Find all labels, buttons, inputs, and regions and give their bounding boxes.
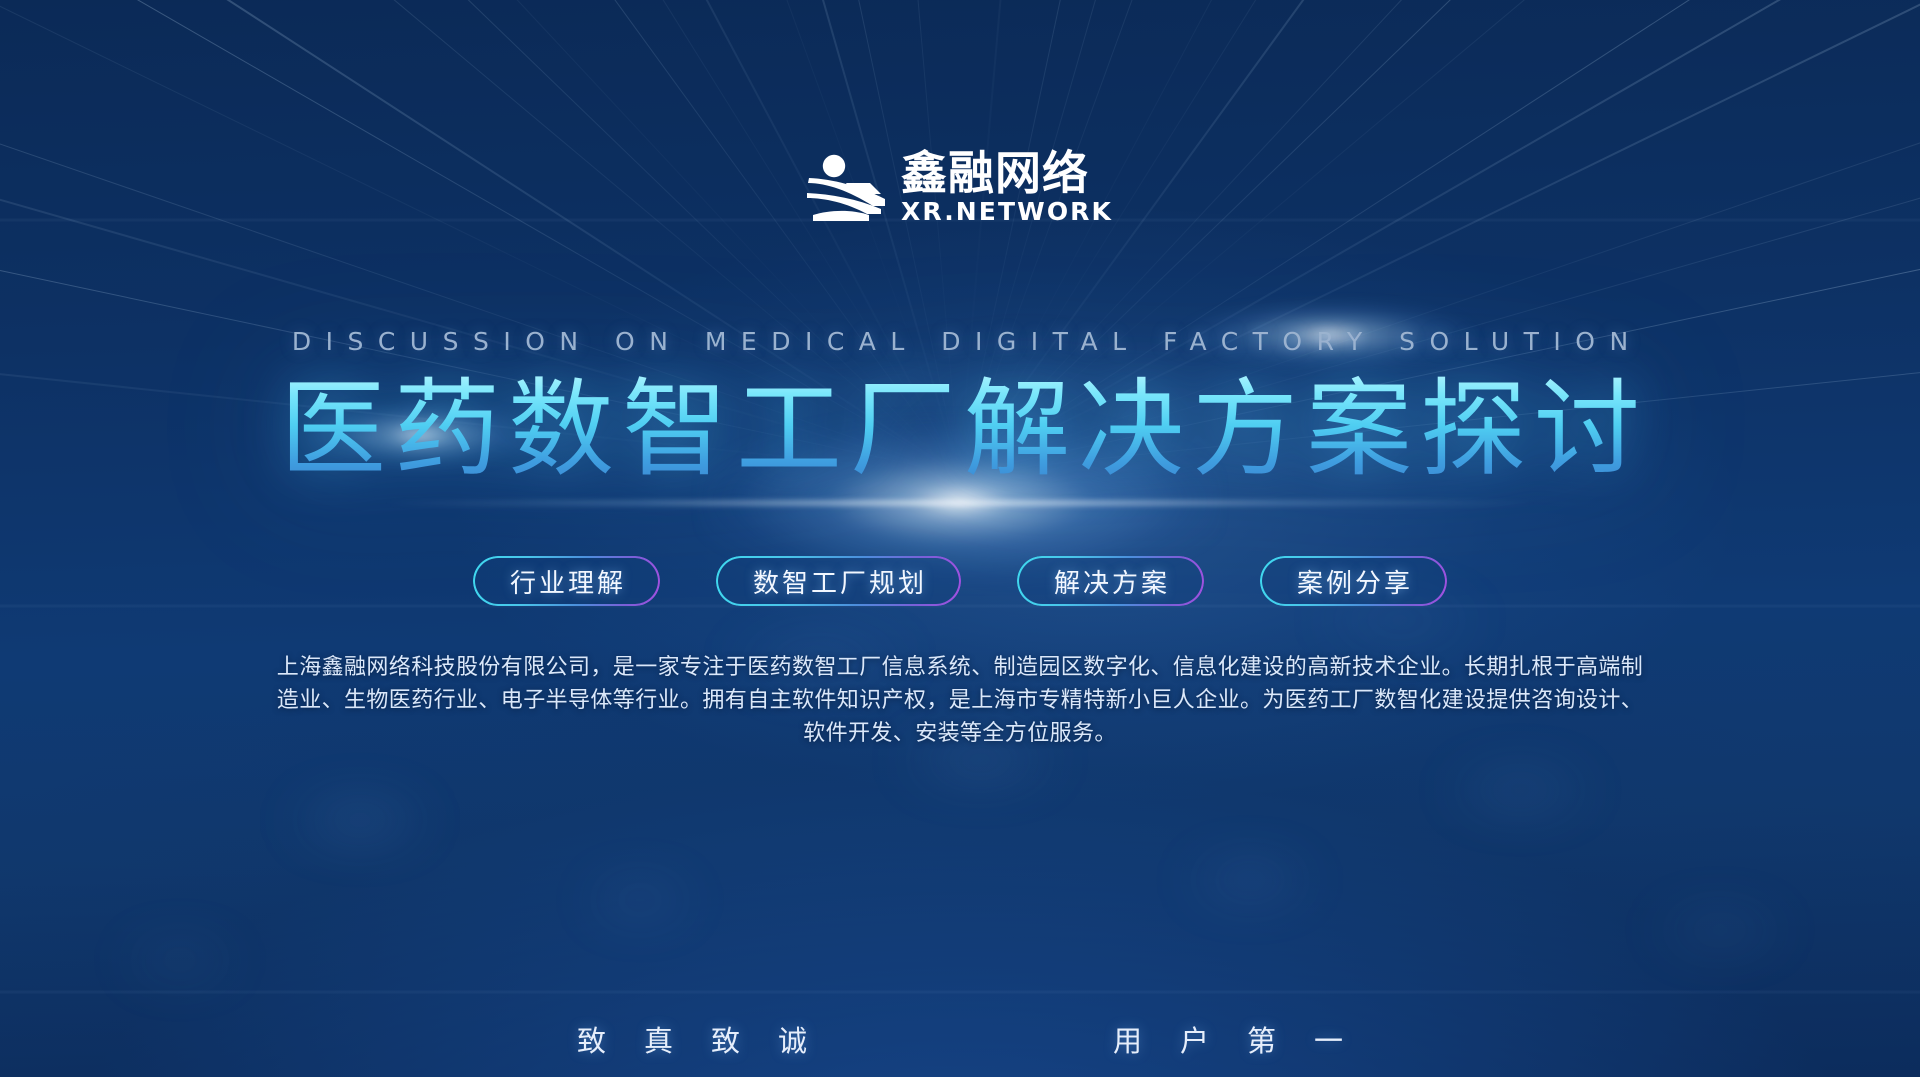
agenda-pill-3[interactable]: 解决方案: [1017, 556, 1204, 606]
agenda-pill-nav: 行业理解数智工厂规划解决方案案例分享: [0, 556, 1920, 606]
agenda-pill-4[interactable]: 案例分享: [1260, 556, 1447, 606]
agenda-pill-label: 解决方案: [1051, 563, 1170, 600]
background-haze: [1645, 907, 1795, 953]
background-haze: [1180, 858, 1320, 902]
background-haze: [1440, 765, 1600, 815]
hero-eyebrow: DISCUSSION ON MEDICAL DIGITAL FACTORY SO…: [0, 327, 1920, 356]
background-haze: [580, 880, 700, 920]
hero-title-container: 医药数智工厂解决方案探讨: [0, 366, 1920, 495]
agenda-pill-2[interactable]: 数智工厂规划: [716, 556, 961, 606]
agenda-pill-label: 行业理解: [507, 563, 626, 600]
company-description-line: 造业、生物医药行业、电子半导体等行业。拥有自主软件知识产权，是上海市专精特新小巨…: [260, 683, 1660, 716]
presentation-slide: 鑫融网络 XR.NETWORK DISCUSSION ON MEDICAL DI…: [0, 0, 1920, 1077]
company-description: 上海鑫融网络科技股份有限公司，是一家专注于医药数智工厂信息系统、制造园区数字化、…: [260, 650, 1660, 749]
agenda-pill-1[interactable]: 行业理解: [473, 556, 660, 606]
brand-logo-text: 鑫融网络 XR.NETWORK: [901, 150, 1113, 226]
footer-slogans: 致真致诚 用户第一: [0, 1018, 1920, 1060]
company-description-line: 软件开发、安装等全方位服务。: [260, 716, 1660, 749]
page-title: 医药数智工厂解决方案探讨: [272, 366, 1648, 495]
company-description-line: 上海鑫融网络科技股份有限公司，是一家专注于医药数智工厂信息系统、制造园区数字化、…: [260, 650, 1660, 683]
brand-name-cn: 鑫融网络: [901, 150, 1113, 197]
slogan-right: 用户第一: [1075, 1018, 1381, 1060]
brand-name-en: XR.NETWORK: [901, 198, 1113, 226]
slogan-left: 致真致诚: [539, 1018, 845, 1060]
agenda-pill-label: 案例分享: [1294, 563, 1413, 600]
sail-logo-icon: [807, 153, 885, 223]
brand-logo: 鑫融网络 XR.NETWORK: [0, 150, 1920, 226]
center-flare-streak: [385, 501, 1535, 505]
background-haze: [115, 940, 245, 980]
background-haze: [285, 797, 435, 843]
agenda-pill-label: 数智工厂规划: [750, 563, 927, 600]
